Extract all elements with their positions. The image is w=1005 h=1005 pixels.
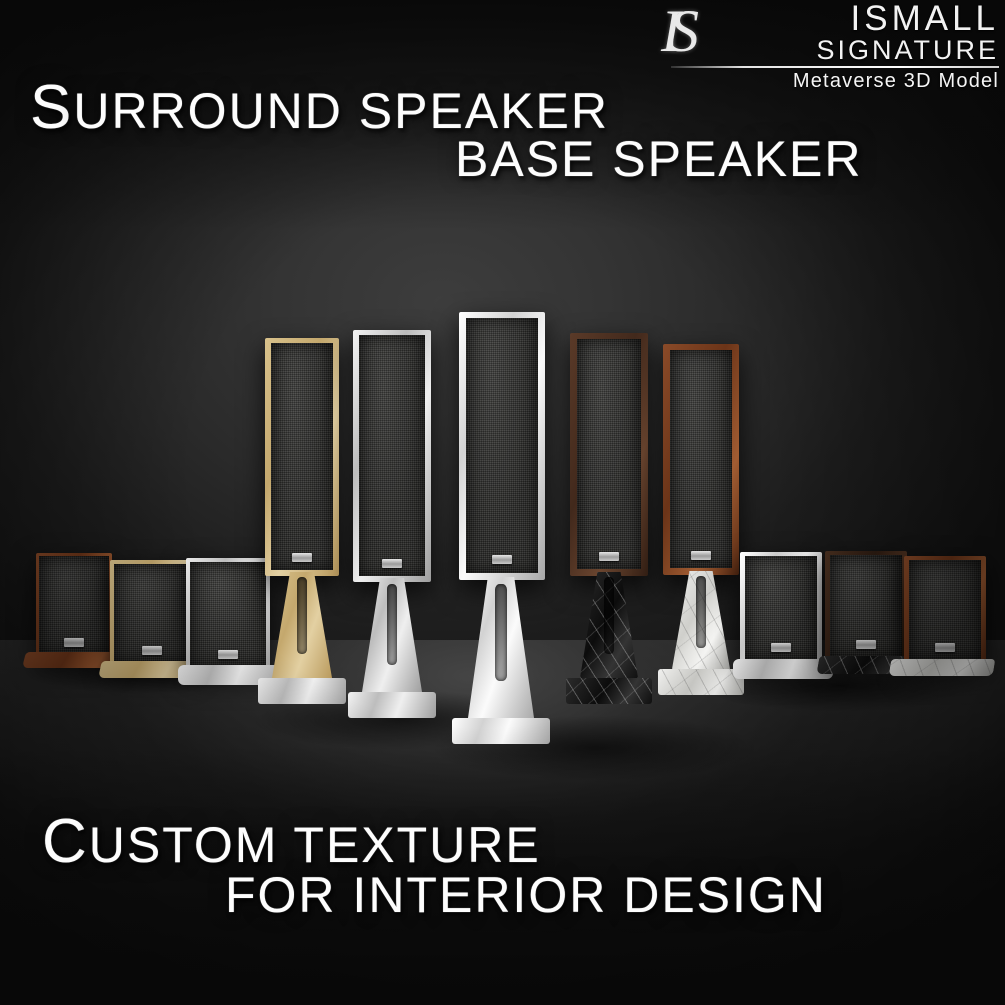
product-render-canvas: IS ISMALL SIGNATURE Metaverse 3D Model S… (0, 0, 1005, 1005)
brand-badge (142, 646, 162, 655)
speaker-grille (830, 555, 902, 656)
brand-badge (292, 553, 312, 562)
speaker-frame (110, 560, 194, 666)
bookshelf-redwood-2[interactable] (904, 556, 986, 664)
brand-badge (691, 551, 711, 560)
stand-foot (258, 678, 347, 704)
tower-stand (362, 578, 422, 718)
stand-foot (566, 678, 652, 704)
brand-badge (599, 552, 619, 561)
stand-slot (696, 576, 706, 648)
bookshelf-darkwood[interactable] (825, 551, 907, 661)
logo-divider (671, 66, 999, 68)
bookshelf-redwood[interactable] (36, 553, 112, 657)
speaker-frame (904, 556, 986, 664)
stand-slot (604, 577, 614, 654)
tower-stand (272, 572, 332, 704)
brand-badge (935, 643, 955, 652)
speaker-frame (825, 551, 907, 661)
brand-badge (218, 650, 238, 659)
speaker-frame (265, 338, 339, 576)
brand-badge (492, 555, 512, 564)
stand-slot (495, 584, 507, 681)
speaker-grille (114, 564, 190, 662)
tower-stand (468, 577, 534, 744)
bookshelf-silver[interactable] (186, 558, 270, 670)
speaker-frame (570, 333, 648, 576)
brand-badge (856, 640, 876, 649)
stand-foot (658, 669, 744, 695)
tower-stand (672, 571, 730, 695)
speaker-frame (186, 558, 270, 670)
speaker-grille (577, 339, 641, 569)
bookshelf-lightwood[interactable] (110, 560, 194, 666)
stand-foot (348, 692, 437, 718)
speaker-frame (740, 552, 822, 664)
speaker-grille (271, 343, 333, 570)
stand-slot (387, 584, 398, 665)
logo-tagline: Metaverse 3D Model (659, 70, 999, 92)
speaker-grille (909, 560, 981, 659)
headline-rest: USTOM TEXTURE (89, 817, 541, 873)
speaker-grille (190, 562, 266, 666)
brand-badge (771, 643, 791, 652)
headline-for-interior-design: FOR INTERIOR DESIGN (225, 866, 827, 924)
speaker-frame (36, 553, 112, 657)
logo-line-ismall: ISMALL (816, 2, 999, 36)
speaker-frame (459, 312, 545, 580)
bookshelf-chrome[interactable] (740, 552, 822, 664)
speaker-frame (353, 330, 431, 582)
speaker-grille (359, 335, 425, 576)
speaker-frame (663, 344, 739, 575)
headline-cap: S (30, 73, 73, 142)
logo-line-signature: SIGNATURE (816, 36, 999, 64)
speaker-grille (745, 556, 817, 659)
bookshelf-redwood-2-base (889, 659, 996, 676)
brand-badge (64, 638, 84, 647)
speaker-grille (466, 318, 538, 573)
monogram-icon: IS (661, 0, 687, 64)
stand-slot (297, 577, 308, 654)
headline-cap: C (42, 807, 89, 876)
brand-logo: IS ISMALL SIGNATURE Metaverse 3D Model (659, 2, 999, 92)
tower-stand (580, 572, 638, 704)
brand-badge (382, 559, 402, 568)
speaker-grille (670, 350, 732, 568)
headline-base-speaker: BASE SPEAKER (455, 130, 863, 188)
speaker-grille (39, 556, 109, 654)
stand-foot (452, 718, 550, 744)
